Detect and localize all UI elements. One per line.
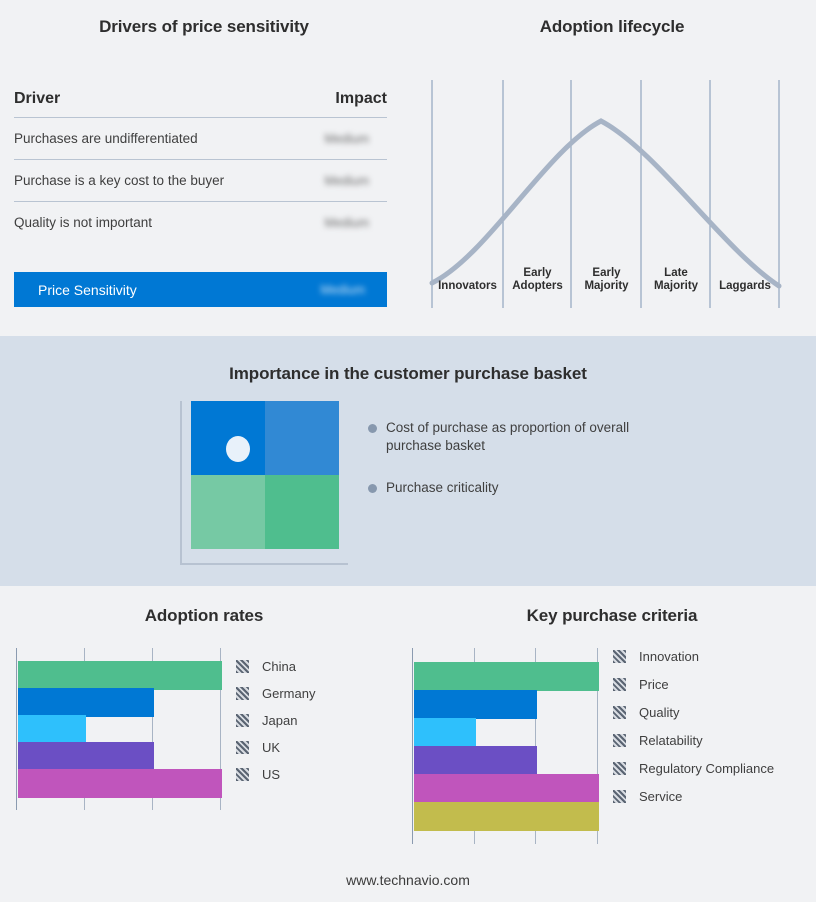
legend-label: UK xyxy=(262,740,280,755)
quadrant-cell-top-right xyxy=(265,401,339,475)
adoption-rates-title: Adoption rates xyxy=(0,606,408,626)
bar-china xyxy=(18,661,222,690)
bar-japan xyxy=(18,715,86,744)
quadrant-chart xyxy=(180,401,360,566)
hatch-swatch-icon xyxy=(613,650,626,663)
impact-value: Medium xyxy=(325,132,387,146)
basket-title: Importance in the customer purchase bask… xyxy=(0,364,816,384)
lifecycle-label-innovators: Innovators xyxy=(432,280,503,293)
driver-label: Purchase is a key cost to the buyer xyxy=(14,173,224,188)
hatch-swatch-icon xyxy=(613,790,626,803)
purchase-basket-section: Importance in the customer purchase bask… xyxy=(0,336,816,586)
quadrant-marker-dot xyxy=(226,436,250,462)
driver-label: Purchases are undifferentiated xyxy=(14,131,198,146)
lifecycle-label-laggards: Laggards xyxy=(711,280,779,293)
hatch-swatch-icon xyxy=(613,678,626,691)
basket-legend: Cost of purchase as proportion of overal… xyxy=(368,419,668,521)
driver-label: Quality is not important xyxy=(14,215,152,230)
legend-label: Germany xyxy=(262,686,315,701)
lifecycle-label-early-adopters: Early Adopters xyxy=(504,267,571,293)
bar-regulatory-compliance xyxy=(414,774,599,803)
bullet-icon xyxy=(368,484,377,493)
top-section: Drivers of price sensitivity Driver Impa… xyxy=(0,0,816,336)
footer-url: www.technavio.com xyxy=(0,872,816,888)
y-axis-line xyxy=(412,648,413,844)
y-axis-line xyxy=(16,648,17,810)
legend-item: Service xyxy=(613,782,774,810)
drivers-title: Drivers of price sensitivity xyxy=(0,17,408,37)
legend-item: Innovation xyxy=(613,642,774,670)
table-row: Quality is not important Medium xyxy=(14,202,387,243)
legend-item: Germany xyxy=(236,680,315,707)
key-purchase-criteria-panel: Key purchase criteria InnovationPriceQua… xyxy=(408,586,816,902)
bar-innovation xyxy=(414,662,599,691)
hatch-swatch-icon xyxy=(236,660,249,673)
impact-value: Medium xyxy=(325,216,387,230)
quadrant-cell-bottom-right xyxy=(265,475,339,549)
legend-item: Quality xyxy=(613,698,774,726)
impact-value: Medium xyxy=(325,174,387,188)
hatch-swatch-icon xyxy=(236,768,249,781)
hatch-swatch-icon xyxy=(236,714,249,727)
legend-label: Relatability xyxy=(639,733,703,748)
legend-item: Cost of purchase as proportion of overal… xyxy=(368,419,668,455)
legend-item: Regulatory Compliance xyxy=(613,754,774,782)
bar-quality xyxy=(414,718,476,747)
adoption-rates-legend: ChinaGermanyJapanUKUS xyxy=(236,653,315,788)
lifecycle-label-late-majority: Late Majority xyxy=(642,267,710,293)
legend-item: Relatability xyxy=(613,726,774,754)
bar-service xyxy=(414,802,599,831)
legend-item: UK xyxy=(236,734,315,761)
legend-label: Service xyxy=(639,789,682,804)
bar-us xyxy=(18,769,222,798)
key-purchase-criteria-plot xyxy=(412,648,599,844)
drivers-panel: Drivers of price sensitivity Driver Impa… xyxy=(0,0,408,336)
bar-relatability xyxy=(414,746,537,775)
legend-label: China xyxy=(262,659,296,674)
column-header-impact: Impact xyxy=(335,90,387,108)
legend-label: Purchase criticality xyxy=(386,479,499,497)
quadrant-cell-top-left xyxy=(191,401,265,475)
price-sensitivity-impact: Medium xyxy=(321,283,387,297)
bar-germany xyxy=(18,688,154,717)
column-header-driver: Driver xyxy=(14,90,60,108)
hatch-swatch-icon xyxy=(236,687,249,700)
hatch-swatch-icon xyxy=(613,762,626,775)
legend-label: Innovation xyxy=(639,649,699,664)
quadrant-cell-bottom-left xyxy=(191,475,265,549)
legend-label: Price xyxy=(639,677,669,692)
lifecycle-chart: Innovators Early Adopters Early Majority… xyxy=(428,80,803,310)
lifecycle-label-early-majority: Early Majority xyxy=(572,267,641,293)
table-row: Purchase is a key cost to the buyer Medi… xyxy=(14,160,387,202)
hatch-swatch-icon xyxy=(613,706,626,719)
legend-label: Regulatory Compliance xyxy=(639,761,774,776)
lifecycle-panel: Adoption lifecycle Innovators Early Adop… xyxy=(408,0,816,336)
bullet-icon xyxy=(368,424,377,433)
price-sensitivity-summary-row: Price Sensitivity Medium xyxy=(14,272,387,307)
legend-item: Price xyxy=(613,670,774,698)
lifecycle-title: Adoption lifecycle xyxy=(408,17,816,37)
legend-label: Quality xyxy=(639,705,679,720)
adoption-rates-plot xyxy=(16,648,222,810)
key-purchase-criteria-legend: InnovationPriceQualityRelatabilityRegula… xyxy=(613,642,774,810)
table-row: Purchases are undifferentiated Medium xyxy=(14,118,387,160)
quadrant-grid xyxy=(191,401,339,549)
legend-item: US xyxy=(236,761,315,788)
key-purchase-criteria-title: Key purchase criteria xyxy=(408,606,816,626)
quadrant-axes xyxy=(180,401,348,565)
legend-label: Cost of purchase as proportion of overal… xyxy=(386,419,668,455)
price-sensitivity-label: Price Sensitivity xyxy=(14,282,137,298)
bar-price xyxy=(414,690,537,719)
hatch-swatch-icon xyxy=(613,734,626,747)
drivers-table-header: Driver Impact xyxy=(14,90,387,118)
bottom-section: Adoption rates ChinaGermanyJapanUKUS Key… xyxy=(0,586,816,902)
bell-curve-path xyxy=(432,121,779,286)
hatch-swatch-icon xyxy=(236,741,249,754)
legend-item: China xyxy=(236,653,315,680)
legend-label: Japan xyxy=(262,713,297,728)
adoption-rates-panel: Adoption rates ChinaGermanyJapanUKUS xyxy=(0,586,408,902)
bar-uk xyxy=(18,742,154,771)
legend-label: US xyxy=(262,767,280,782)
legend-item: Japan xyxy=(236,707,315,734)
drivers-table: Driver Impact Purchases are undifferenti… xyxy=(14,90,387,243)
legend-item: Purchase criticality xyxy=(368,479,668,497)
